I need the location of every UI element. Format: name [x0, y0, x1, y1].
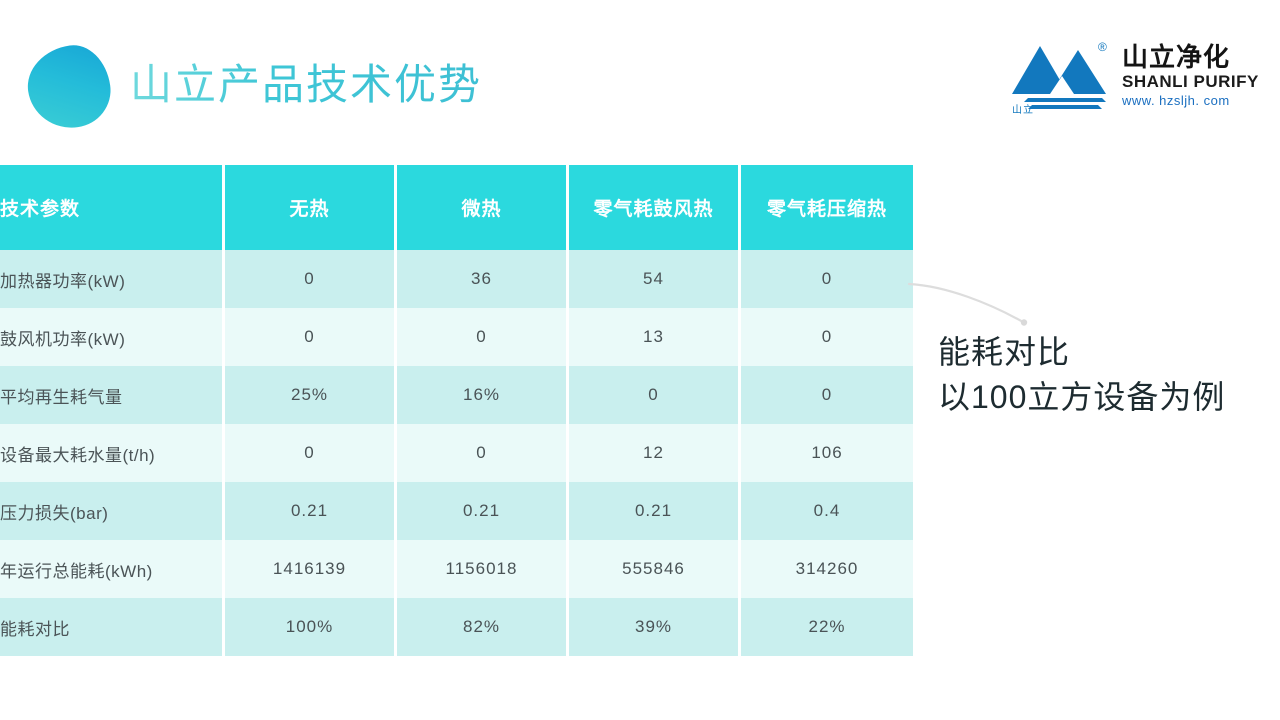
callout-line-2: 以100立方设备为例	[938, 375, 1268, 420]
technical-comparison-table: 技术参数 无热 微热 零气耗鼓风热 零气耗压缩热 加热器功率(kW) 0 36 …	[0, 165, 913, 656]
cell-value: 1156018	[397, 540, 569, 598]
column-header-3: 零气耗鼓风热	[569, 165, 741, 250]
column-header-2: 微热	[397, 165, 569, 250]
table-row: 年运行总能耗(kWh) 1416139 1156018 555846 31426…	[0, 540, 913, 598]
logo-company-cn: 山立净化	[1122, 42, 1272, 72]
cell-value: 36	[397, 250, 569, 308]
table-row: 设备最大耗水量(t/h) 0 0 12 106	[0, 424, 913, 482]
cell-value: 0.4	[741, 482, 913, 540]
table-row: 鼓风机功率(kW) 0 0 13 0	[0, 308, 913, 366]
brand-logo: ® 山立 山立净化 SHANLI PURIFY www. hzsljh. com	[1006, 36, 1268, 118]
row-label: 年运行总能耗(kWh)	[0, 540, 225, 598]
cell-value: 1416139	[225, 540, 397, 598]
cell-value: 0	[397, 308, 569, 366]
cell-value: 0.21	[397, 482, 569, 540]
cell-value: 106	[741, 424, 913, 482]
registered-trademark-icon: ®	[1098, 40, 1107, 54]
column-header-param: 技术参数	[0, 165, 225, 250]
cell-value: 100%	[225, 598, 397, 656]
row-label: 压力损失(bar)	[0, 482, 225, 540]
row-label: 平均再生耗气量	[0, 366, 225, 424]
slide-canvas: 山立产品技术优势 ® 山立 山立净化 SHANLI PURIFY www. hz…	[0, 0, 1280, 720]
cell-value: 0	[225, 424, 397, 482]
table-row: 加热器功率(kW) 0 36 54 0	[0, 250, 913, 308]
spec-table-container: 技术参数 无热 微热 零气耗鼓风热 零气耗压缩热 加热器功率(kW) 0 36 …	[0, 165, 912, 653]
cell-value: 13	[569, 308, 741, 366]
cell-value: 0	[741, 366, 913, 424]
row-label: 加热器功率(kW)	[0, 250, 225, 308]
table-header: 技术参数 无热 微热 零气耗鼓风热 零气耗压缩热	[0, 165, 913, 250]
row-label: 能耗对比	[0, 598, 225, 656]
cell-value: 0	[569, 366, 741, 424]
slide-header: 山立产品技术优势	[0, 38, 620, 138]
table-body: 加热器功率(kW) 0 36 54 0 鼓风机功率(kW) 0 0 13 0 平…	[0, 250, 913, 656]
logo-website-url: www. hzsljh. com	[1122, 92, 1272, 109]
callout-line-1: 能耗对比	[938, 330, 1268, 375]
cell-value: 54	[569, 250, 741, 308]
cell-value: 0	[397, 424, 569, 482]
table-row: 平均再生耗气量 25% 16% 0 0	[0, 366, 913, 424]
cell-value: 0	[741, 308, 913, 366]
table-row: 能耗对比 100% 82% 39% 22%	[0, 598, 913, 656]
decorative-blob-shape	[23, 41, 116, 134]
cell-value: 82%	[397, 598, 569, 656]
cell-value: 314260	[741, 540, 913, 598]
table-row: 压力损失(bar) 0.21 0.21 0.21 0.4	[0, 482, 913, 540]
cell-value: 12	[569, 424, 741, 482]
table-header-row: 技术参数 无热 微热 零气耗鼓风热 零气耗压缩热	[0, 165, 913, 250]
cell-value: 0	[741, 250, 913, 308]
cell-value: 555846	[569, 540, 741, 598]
column-header-1: 无热	[225, 165, 397, 250]
row-label: 鼓风机功率(kW)	[0, 308, 225, 366]
page-title: 山立产品技术优势	[130, 50, 482, 120]
cell-value: 22%	[741, 598, 913, 656]
logo-company-en: SHANLI PURIFY	[1122, 72, 1272, 92]
column-header-4: 零气耗压缩热	[741, 165, 913, 250]
callout-annotation: 能耗对比 以100立方设备为例	[938, 330, 1268, 420]
logo-wordmark: 山立净化 SHANLI PURIFY www. hzsljh. com	[1122, 42, 1272, 109]
cell-value: 0.21	[225, 482, 397, 540]
cell-value: 0.21	[569, 482, 741, 540]
row-label: 设备最大耗水量(t/h)	[0, 424, 225, 482]
cell-value: 25%	[225, 366, 397, 424]
cell-value: 39%	[569, 598, 741, 656]
cell-value: 0	[225, 250, 397, 308]
cell-value: 0	[225, 308, 397, 366]
cell-value: 16%	[397, 366, 569, 424]
logo-mark-sublabel: 山立	[1012, 101, 1034, 116]
